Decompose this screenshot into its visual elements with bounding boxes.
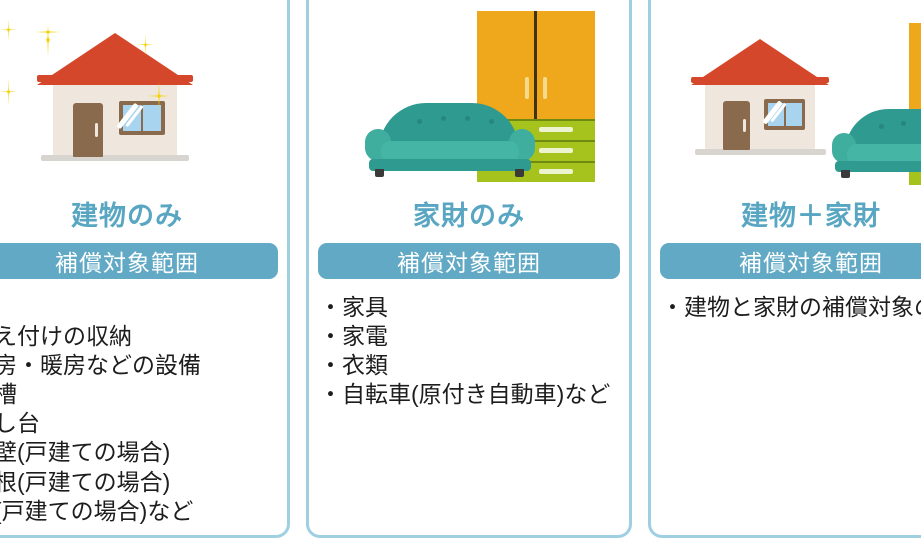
coverage-scope-pill: 補償対象範囲: [0, 243, 278, 279]
list-item: 畳: [0, 293, 287, 322]
list-item: ・衣類: [319, 351, 629, 380]
illustration-house-sofa-cabinet: [651, 3, 921, 199]
house-icon: [681, 31, 841, 171]
list-item: ・自転車(原付き自動車)など: [319, 380, 629, 409]
coverage-item-list: ・建物と家財の補償対象の範: [661, 293, 921, 322]
list-item: ・家具: [319, 293, 629, 322]
coverage-scope-pill: 補償対象範囲: [318, 243, 620, 279]
list-item: 備え付けの収納: [0, 322, 287, 351]
sofa-icon: [819, 109, 921, 183]
sofa-icon: [351, 103, 551, 183]
list-item: 冷房・暖房などの設備: [0, 351, 287, 380]
coverage-scope-label: 補償対象範囲: [55, 244, 199, 278]
list-item: 流し台: [0, 409, 287, 438]
coverage-scope-pill: 補償対象範囲: [660, 243, 921, 279]
card-title: 建物のみ: [0, 203, 287, 230]
list-item: ・建物と家財の補償対象の範: [661, 293, 921, 322]
coverage-card-contents-only[interactable]: 家財のみ 補償対象範囲 ・家具 ・家電 ・衣類 ・自転車(原付き自動車)など: [306, 0, 632, 538]
coverage-item-list: ・家具 ・家電 ・衣類 ・自転車(原付き自動車)など: [319, 293, 629, 409]
card-title: 建物＋家財: [651, 203, 921, 230]
list-item: 屋根(戸建ての場合): [0, 468, 287, 497]
list-item: 門(戸建ての場合)など: [0, 497, 287, 526]
list-item: 浴槽: [0, 380, 287, 409]
coverage-card-building-plus-contents[interactable]: 建物＋家財 補償対象範囲 ・建物と家財の補償対象の範: [648, 0, 921, 538]
coverage-card-building-only[interactable]: 建物のみ 補償対象範囲 畳 備え付けの収納 冷房・暖房などの設備 浴槽 流し台 …: [0, 0, 290, 538]
coverage-card-row: 建物のみ 補償対象範囲 畳 備え付けの収納 冷房・暖房などの設備 浴槽 流し台 …: [0, 0, 921, 538]
illustration-sofa-cabinet: [309, 3, 629, 199]
coverage-item-list: 畳 備え付けの収納 冷房・暖房などの設備 浴槽 流し台 外壁(戸建ての場合) 屋…: [0, 293, 287, 526]
infographic-root: 建物のみ 補償対象範囲 畳 備え付けの収納 冷房・暖房などの設備 浴槽 流し台 …: [0, 0, 921, 538]
card-title: 家財のみ: [309, 203, 629, 230]
illustration-sparkling-house: [0, 3, 287, 199]
coverage-scope-label: 補償対象範囲: [739, 244, 883, 278]
list-item: 外壁(戸建ての場合): [0, 438, 287, 467]
coverage-scope-label: 補償対象範囲: [397, 244, 541, 278]
list-item: ・家電: [319, 322, 629, 351]
house-icon: [25, 25, 205, 175]
